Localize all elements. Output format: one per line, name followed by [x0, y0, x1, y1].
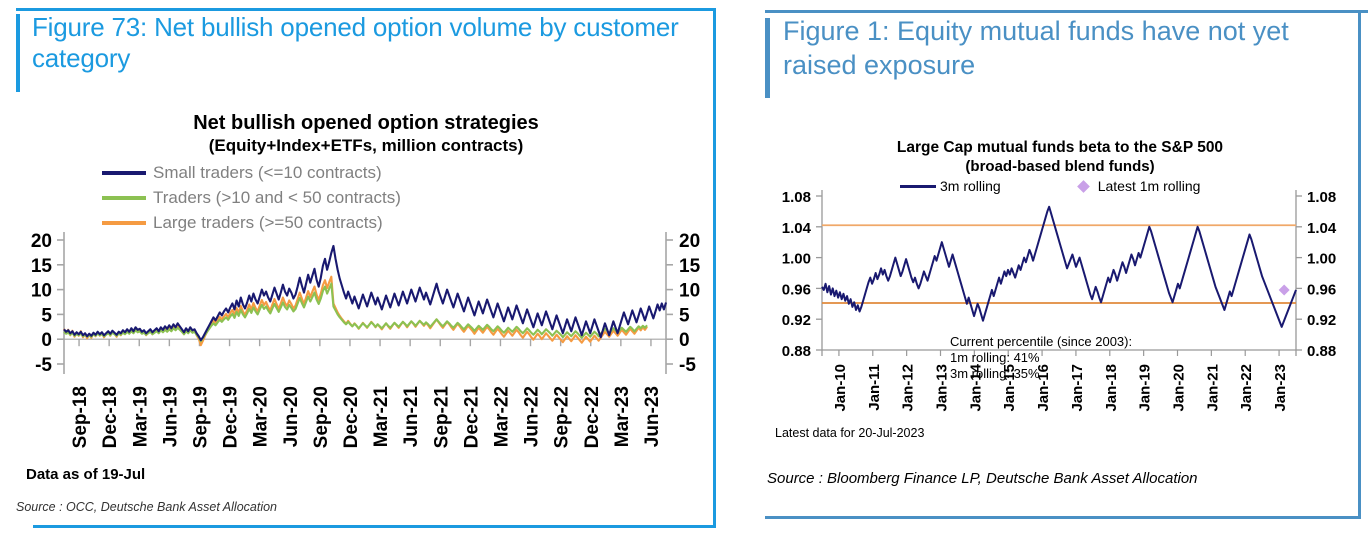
left-data-as-of: Data as of 19-Jul [26, 466, 145, 483]
x-tick-label: Jan-21 [1204, 364, 1221, 412]
right-chart-plot: 0.880.880.920.920.960.961.001.001.041.04… [760, 138, 1360, 458]
y-tick-label-left: 1.08 [782, 189, 811, 206]
y-tick-label-right: 0.96 [1307, 281, 1336, 298]
x-tick-label: Jun-23 [642, 386, 663, 447]
x-tick-label: Sep-18 [70, 386, 91, 448]
right-source-note: Source : Bloomberg Finance LP, Deutsche … [767, 470, 1198, 487]
y-tick-label-left: 1.00 [782, 251, 811, 268]
y-tick-label-left: 0 [41, 330, 52, 351]
y-tick-label-right: 15 [679, 256, 701, 277]
y-tick-label-right: 1.04 [1307, 220, 1337, 237]
figure-pair-page: Figure 73: Net bullish opened option vol… [0, 0, 1368, 546]
x-tick-label: Mar-22 [491, 386, 512, 447]
right-latest-data-note: Latest data for 20-Jul-2023 [775, 426, 924, 440]
left-panel-bottom-border [33, 525, 716, 528]
y-tick-label-right: 10 [679, 281, 700, 302]
x-tick-label: Mar-23 [612, 386, 633, 447]
left-panel-top-rule [16, 8, 716, 11]
y-tick-label-left: 15 [31, 256, 53, 277]
x-tick-label: Sep-19 [190, 386, 211, 448]
x-tick-label: Jun-19 [160, 386, 181, 447]
x-tick-label: Jan-13 [934, 364, 951, 412]
y-tick-label-right: 0.88 [1307, 343, 1336, 360]
y-tick-label-left: 0.92 [782, 312, 811, 329]
right-header-accent-bar [765, 18, 770, 98]
right-chart-annotation: Current percentile (since 2003): 1m roll… [950, 334, 1132, 382]
x-tick-label: Jan-10 [832, 364, 849, 412]
x-tick-label: Jan-22 [1238, 364, 1255, 412]
y-tick-label-right: 0 [679, 330, 690, 351]
y-tick-label-right: 5 [679, 305, 690, 326]
y-tick-label-right: 0.92 [1307, 312, 1336, 329]
x-tick-label: Sep-22 [552, 386, 573, 448]
y-tick-label-left: 0.88 [782, 343, 811, 360]
left-header-accent-bar [16, 14, 20, 92]
left-chart-plot: -5-50055101015152020Sep-18Dec-18Mar-19Ju… [16, 112, 716, 462]
latest-1m-rolling-marker [1279, 284, 1290, 295]
y-tick-label-left: 10 [31, 281, 52, 302]
x-tick-label: Mar-20 [251, 386, 272, 447]
x-tick-label: Jan-11 [866, 364, 883, 411]
x-tick-label: Mar-21 [371, 386, 392, 448]
right-panel-top-rule [765, 10, 1368, 13]
y-tick-label-left: 5 [41, 305, 52, 326]
y-tick-label-left: 20 [31, 231, 52, 252]
right-chart: Large Cap mutual funds beta to the S&P 5… [760, 138, 1360, 458]
right-panel-bottom-border [765, 516, 1361, 519]
x-tick-label: Dec-21 [461, 386, 482, 449]
x-tick-label: Jun-22 [522, 386, 543, 447]
x-tick-label: Jun-20 [281, 386, 302, 447]
x-tick-label: Jan-20 [1171, 364, 1188, 412]
y-tick-label-left: -5 [35, 355, 52, 376]
annotation-line-2: 1m rolling: 41% [950, 350, 1132, 366]
x-tick-label: Mar-19 [130, 386, 151, 447]
x-tick-label: Dec-20 [341, 386, 362, 448]
right-figure-header: Figure 1: Equity mutual funds have not y… [765, 18, 1365, 100]
x-tick-label: Jan-19 [1137, 364, 1154, 412]
right-figure-title: Figure 1: Equity mutual funds have not y… [783, 14, 1343, 82]
y-tick-label-right: 1.00 [1307, 251, 1336, 268]
right-figure-panel: Figure 1: Equity mutual funds have not y… [755, 0, 1368, 546]
left-source-note: Source : OCC, Deutsche Bank Asset Alloca… [16, 500, 277, 514]
x-tick-label: Dec-22 [582, 386, 603, 448]
left-figure-panel: Figure 73: Net bullish opened option vol… [0, 0, 722, 546]
annotation-line-1: Current percentile (since 2003): [950, 334, 1132, 350]
y-tick-label-left: 0.96 [782, 281, 811, 298]
x-tick-label: Sep-21 [431, 386, 452, 449]
left-chart: Net bullish opened option strategies (Eq… [16, 112, 716, 462]
x-tick-label: Sep-20 [311, 386, 332, 448]
annotation-line-3: 3m rolling: 35% [950, 366, 1132, 382]
x-tick-label: Jan-12 [900, 364, 917, 412]
y-tick-label-right: 20 [679, 231, 700, 252]
left-figure-header: Figure 73: Net bullish opened option vol… [16, 14, 716, 94]
x-tick-label: Jan-23 [1272, 364, 1289, 412]
x-tick-label: Dec-18 [100, 386, 121, 448]
x-tick-label: Dec-19 [221, 386, 242, 448]
left-figure-title: Figure 73: Net bullish opened option vol… [32, 12, 704, 74]
y-tick-label-left: 1.04 [782, 220, 812, 237]
y-tick-label-right: 1.08 [1307, 189, 1336, 206]
x-tick-label: Jun-21 [401, 386, 422, 448]
y-tick-label-right: -5 [679, 355, 696, 376]
